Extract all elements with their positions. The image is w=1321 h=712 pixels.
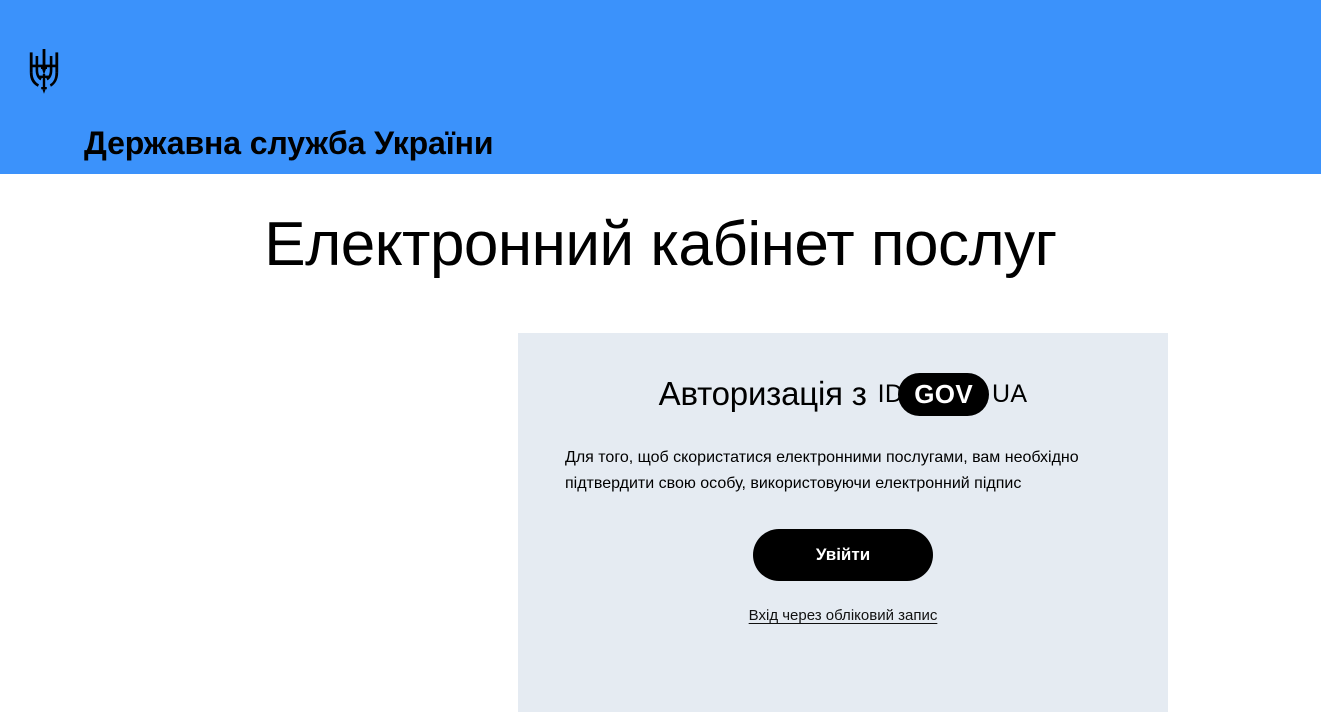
site-header: Державна служба України з безпеки на тра… (0, 0, 1321, 174)
auth-card-alt-login: Вхід через обліковий запис (518, 581, 1168, 625)
account-login-link[interactable]: Вхід через обліковий запис (749, 607, 938, 624)
ukraine-trident-emblem (26, 45, 62, 97)
id-gov-ua-logo: ID GOV UA (878, 373, 1028, 416)
page-title: Електронний кабінет послуг (0, 212, 1321, 277)
login-button[interactable]: Увійти (753, 529, 933, 581)
main-content: Електронний кабінет послуг Авторизація з… (0, 174, 1321, 712)
auth-card-title: Авторизація з ID GOV UA (518, 333, 1168, 416)
auth-card-actions: Увійти (518, 497, 1168, 581)
brand-title-line-1: Державна служба України (84, 123, 493, 163)
logo-gov-pill: GOV (898, 373, 989, 416)
auth-card-description: Для того, щоб скористатися електронними … (518, 416, 1168, 497)
logo-ua-text: UA (984, 381, 1027, 409)
auth-card: Авторизація з ID GOV UA Для того, щоб ск… (518, 333, 1168, 712)
auth-card-title-text: Авторизація з (659, 376, 867, 412)
